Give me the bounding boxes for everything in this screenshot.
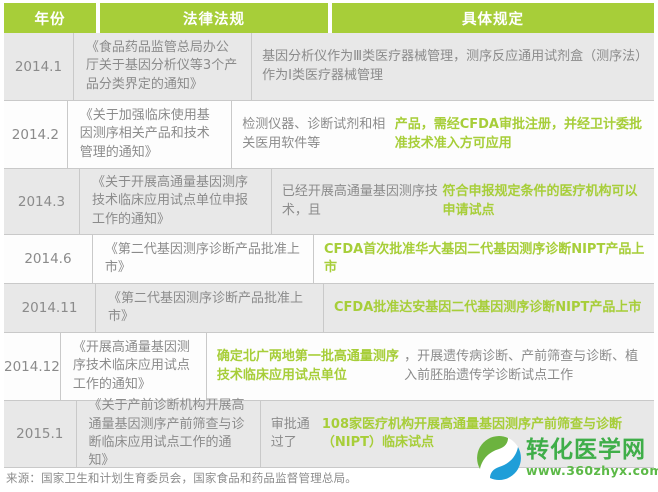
cell-law: 《第二代基因测序诊断产品批准上市》 <box>96 284 324 332</box>
column-header-year: 年份 <box>4 3 96 33</box>
detail-tail-text: ，开展遗传病诊断、产前筛查与诊断、植入前胚胎遗传学诊断试点工作 <box>404 348 646 385</box>
cell-year: 2014.11 <box>4 284 96 332</box>
table-figure: 年份 法律法规 具体规定 2014.1 《食品药品监管总局办公厅关于基因分析仪等… <box>0 0 658 492</box>
cell-detail: CFDA批准达安基因二代基因测序诊断NIPT产品上市 <box>324 284 654 332</box>
table-row: 2014.1 《食品药品监管总局办公厅关于基因分析仪等3个产品分类界定的通知》 … <box>4 33 654 101</box>
table-row: 2014.6 《第二代基因测序诊断产品批准上市》 CFDA首次批准华大基因二代基… <box>4 235 654 284</box>
cell-law: 《关于产前诊断机构开展高通量基因测序产前筛查与诊断临床应用试点工作的通知》 <box>77 401 261 467</box>
cell-law: 《食品药品监管总局办公厅关于基因分析仪等3个产品分类界定的通知》 <box>74 33 252 100</box>
table-row: 2014.11 《第二代基因测序诊断产品批准上市》 CFDA批准达安基因二代基因… <box>4 284 654 333</box>
cell-detail: 审批通过了108家医疗机构开展高通量基因测序产前筛查与诊断（NIPT）临床试点 <box>261 401 654 467</box>
cell-law: 《第二代基因测序诊断产品批准上市》 <box>93 235 314 283</box>
table-row: 2015.1 《关于产前诊断机构开展高通量基因测序产前筛查与诊断临床应用试点工作… <box>4 401 654 468</box>
table-row: 2014.2 《关于加强临床使用基因测序相关产品和技术管理的通知》 检测仪器、诊… <box>4 101 654 169</box>
cell-year: 2014.12 <box>4 333 61 400</box>
cell-year: 2014.2 <box>4 101 68 168</box>
table-row: 2014.12 《开展高通量基因测序技术临床应用试点工作的通知》 确定北广两地第… <box>4 333 654 401</box>
cell-detail: 基因分析仪作为Ⅲ类医疗器械管理，测序反应通用试剂盒（测序法）作为Ⅰ类医疗器械管理 <box>252 33 654 100</box>
detail-highlight-text: CFDA首次批准华大基因二代基因测序诊断NIPT产品上市 <box>324 241 646 278</box>
cell-detail: 已经开展高通量基因测序技术，且符合申报规定条件的医疗机构可以申请试点 <box>272 169 654 234</box>
cell-law: 《开展高通量基因测序技术临床应用试点工作的通知》 <box>61 333 207 400</box>
cell-detail: 检测仪器、诊断试剂和相关医用软件等产品，需经CFDA审批注册，并经卫计委批准技术… <box>232 101 654 168</box>
cell-year: 2015.1 <box>4 401 77 467</box>
detail-plain-text: 已经开展高通量基因测序技术，且 <box>282 183 443 220</box>
cell-detail: CFDA首次批准华大基因二代基因测序诊断NIPT产品上市 <box>314 235 654 283</box>
detail-highlight-text: 产品，需经CFDA审批注册，并经卫计委批准技术准入方可应用 <box>395 116 646 153</box>
detail-highlight-text: 符合申报规定条件的医疗机构可以申请试点 <box>443 183 647 220</box>
cell-year: 2014.6 <box>4 235 93 283</box>
table-body: 2014.1 《食品药品监管总局办公厅关于基因分析仪等3个产品分类界定的通知》 … <box>0 33 658 468</box>
cell-year: 2014.1 <box>4 33 74 100</box>
column-header-law: 法律法规 <box>100 3 328 33</box>
cell-year: 2014.3 <box>4 169 80 234</box>
source-note: 来源：国家卫生和计划生育委员会，国家食品和药品监督管理总局。 <box>6 470 357 486</box>
column-header-detail: 具体规定 <box>332 3 654 33</box>
detail-plain-text: 检测仪器、诊断试剂和相关医用软件等 <box>242 116 394 153</box>
table-header-row: 年份 法律法规 具体规定 <box>0 0 658 33</box>
cell-detail: 确定北广两地第一批高通量测序技术临床应用试点单位，开展遗传病诊断、产前筛查与诊断… <box>207 333 654 400</box>
table-row: 2014.3 《关于开展高通量基因测序技术临床应用试点单位申报工作的通知》 已经… <box>4 169 654 235</box>
cell-law: 《关于加强临床使用基因测序相关产品和技术管理的通知》 <box>68 101 232 168</box>
detail-plain-text: 审批通过了 <box>271 416 322 453</box>
detail-highlight-text: CFDA批准达安基因二代基因测序诊断NIPT产品上市 <box>334 299 641 317</box>
detail-plain-text: 基因分析仪作为Ⅲ类医疗器械管理，测序反应通用试剂盒（测序法）作为Ⅰ类医疗器械管理 <box>262 48 646 85</box>
cell-law: 《关于开展高通量基因测序技术临床应用试点单位申报工作的通知》 <box>80 169 272 234</box>
detail-highlight-text: 108家医疗机构开展高通量基因测序产前筛查与诊断（NIPT）临床试点 <box>322 416 646 453</box>
detail-highlight-text: 确定北广两地第一批高通量测序技术临床应用试点单位 <box>217 348 404 385</box>
